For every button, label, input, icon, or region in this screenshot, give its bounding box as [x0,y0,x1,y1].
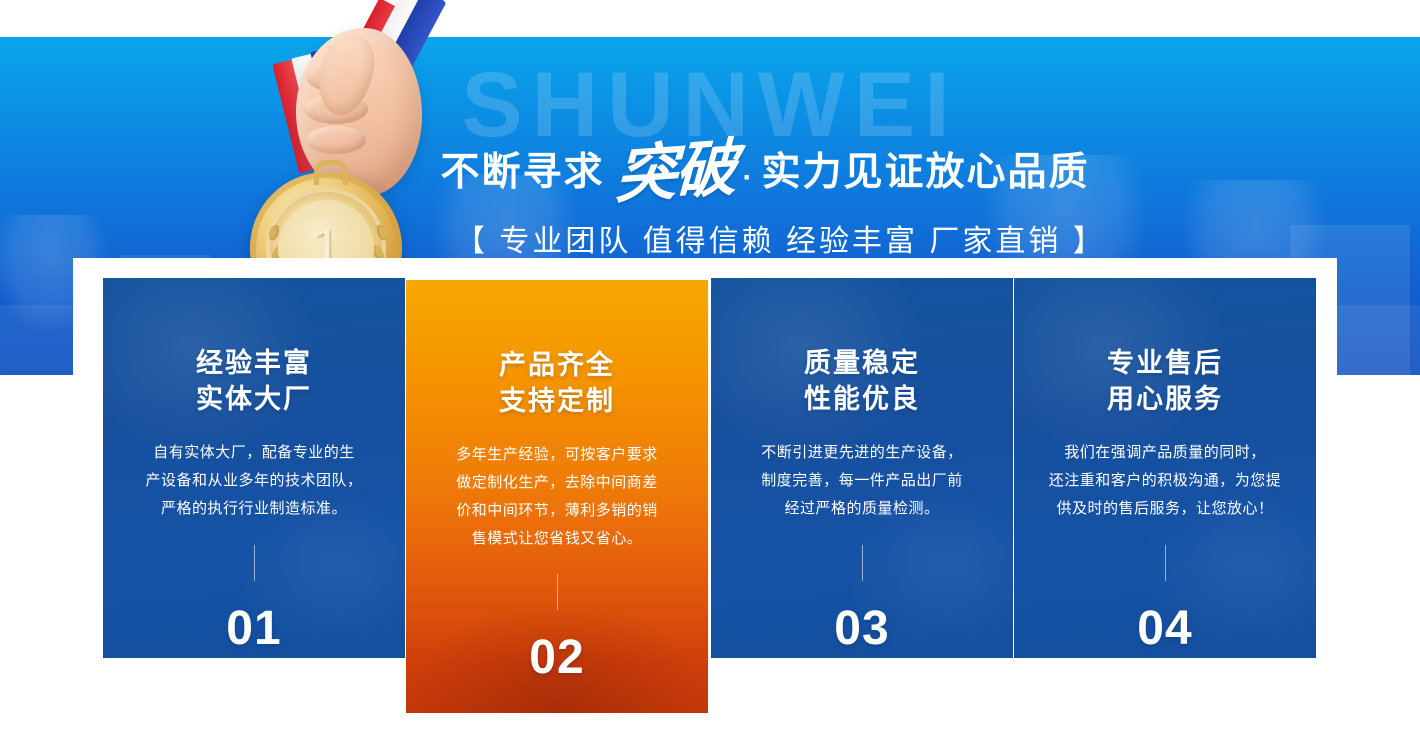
card-02-divider [557,574,558,610]
knuckle-3 [306,126,366,154]
card-02-body-line: 做定制化生产，去除中间商差 [428,469,686,497]
headline-separator-dot: · [743,161,754,194]
card-01-title: 经验丰富 实体大厂 [103,346,405,417]
card-03-body-line: 不断引进更先进的生产设备， [733,439,991,467]
feature-card-02[interactable]: 产品齐全 支持定制 多年生产经验，可按客户要求 做定制化生产，去除中间商差 价和… [406,280,708,713]
card-01-body-line: 产设备和从业多年的技术团队， [125,467,383,495]
feature-card-04[interactable]: 专业售后 用心服务 我们在强调产品质量的同时， 还注重和客户的积极沟通，为您提 … [1014,278,1316,658]
card-02-body-line: 多年生产经验，可按客户要求 [428,441,686,469]
card-02-title-line2: 支持定制 [406,384,708,420]
card-01-body-line: 严格的执行行业制造标准。 [125,495,383,523]
headline-block: 不断寻求 突破 · 实力见证放心品质 【 专业团队 值得信赖 经验丰富 厂家直销… [455,147,1075,260]
card-02-body-line: 售模式让您省钱又省心。 [428,525,686,553]
card-04-title-line2: 用心服务 [1014,382,1316,418]
headline: 不断寻求 突破 · 实力见证放心品质 [455,147,1075,200]
card-01-body-line: 自有实体大厂，配备专业的生 [125,439,383,467]
card-04-body-line: 我们在强调产品质量的同时， [1026,439,1304,467]
card-02-body: 多年生产经验，可按客户要求 做定制化生产，去除中间商差 价和中间环节，薄利多销的… [406,441,708,552]
card-04-title: 专业售后 用心服务 [1014,346,1316,417]
card-02-title-line1: 产品齐全 [406,348,708,384]
card-03-body: 不断引进更先进的生产设备， 制度完善，每一件产品出厂前 经过严格的质量检测。 [711,439,1013,522]
headline-part1: 不断寻求 [440,152,604,195]
headline-emphasis: 突破 [614,143,736,204]
card-03-title-line1: 质量稳定 [711,346,1013,382]
card-03-divider [862,545,863,581]
card-03-body-line: 经过严格的质量检测。 [733,495,991,523]
card-04-body-line: 供及时的售后服务，让您放心！ [1026,495,1304,523]
card-02-number: 02 [406,634,708,682]
card-01-divider [254,545,255,581]
headline-subline: 【 专业团队 值得信赖 经验丰富 厂家直销 】 [455,216,1075,260]
card-03-title: 质量稳定 性能优良 [711,346,1013,417]
feature-card-03[interactable]: 质量稳定 性能优良 不断引进更先进的生产设备， 制度完善，每一件产品出厂前 经过… [711,278,1013,658]
medal-clip [314,160,348,185]
promo-banner: SHUNWEI 不断寻求 突破 · 实力见证放心品质 【 专业团队 值得信赖 经… [0,0,1420,748]
card-02-title: 产品齐全 支持定制 [406,348,708,419]
card-03-title-line2: 性能优良 [711,382,1013,418]
card-04-divider [1165,545,1166,581]
card-01-number: 01 [103,605,405,653]
card-03-body-line: 制度完善，每一件产品出厂前 [733,467,991,495]
card-04-number: 04 [1014,605,1316,653]
card-04-title-line1: 专业售后 [1014,346,1316,382]
card-04-body: 我们在强调产品质量的同时， 还注重和客户的积极沟通，为您提 供及时的售后服务，让… [1014,439,1316,522]
headline-part2: 实力见证放心品质 [762,152,1090,195]
card-03-number: 03 [711,605,1013,653]
card-02-body-line: 价和中间环节，薄利多销的销 [428,497,686,525]
card-01-title-line1: 经验丰富 [103,346,405,382]
card-01-title-line2: 实体大厂 [103,382,405,418]
card-04-body-line: 还注重和客户的积极沟通，为您提 [1026,467,1304,495]
card-01-body: 自有实体大厂，配备专业的生 产设备和从业多年的技术团队， 严格的执行行业制造标准… [103,439,405,522]
feature-card-01[interactable]: 经验丰富 实体大厂 自有实体大厂，配备专业的生 产设备和从业多年的技术团队， 严… [103,278,405,658]
